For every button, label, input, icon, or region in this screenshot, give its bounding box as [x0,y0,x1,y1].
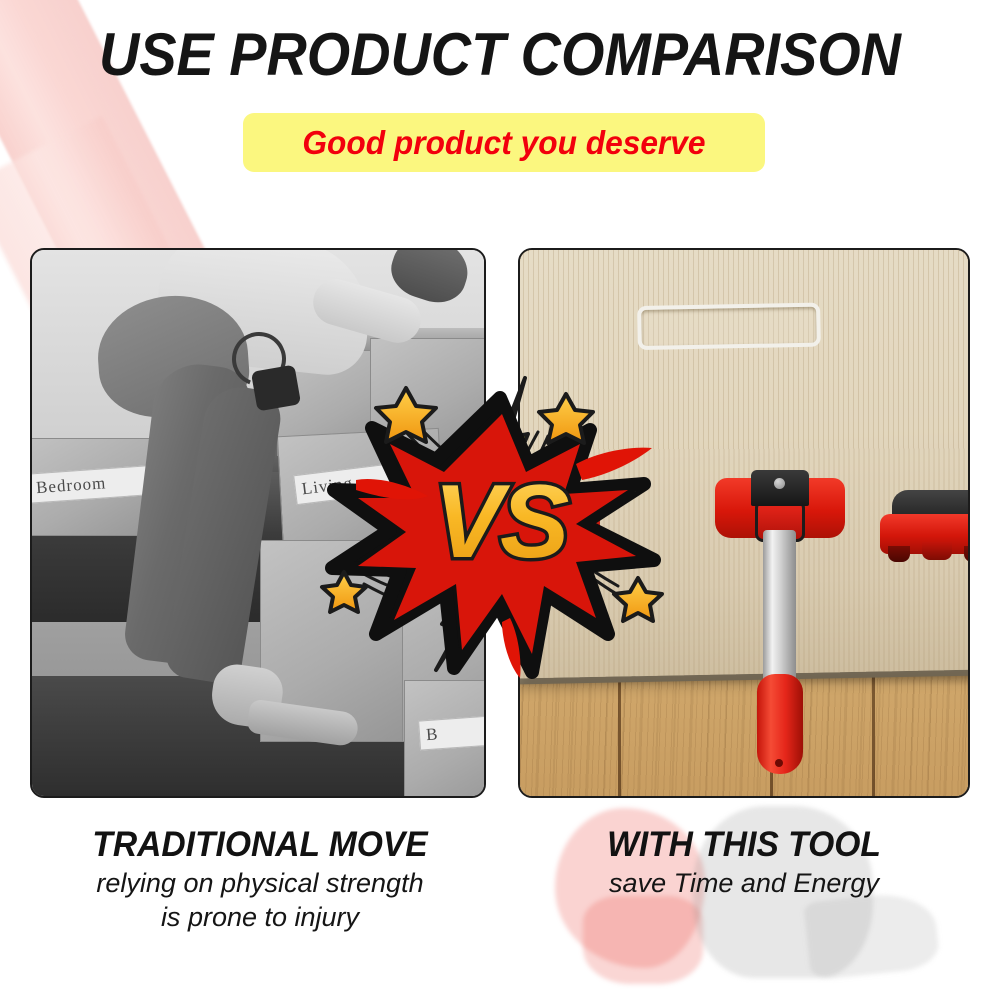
moving-scene-image: Bedroom Living B [32,250,484,796]
subtitle-text: Good product you deserve [302,124,705,162]
furniture-lifter-tool [715,478,845,768]
with-this-tool-photo [518,248,970,798]
page-title: USE PRODUCT COMPARISON [35,22,965,88]
caption-line-2: is prone to injury [30,900,490,934]
box-label: B [418,713,486,750]
cardboard-box: B [404,680,486,798]
product-comparison-page: USE PRODUCT COMPARISON Good product you … [0,0,1000,1000]
caption-traditional-move: TRADITIONAL MOVE relying on physical str… [30,824,490,934]
subtitle-banner: Good product you deserve [243,113,765,172]
board-handle [637,303,821,351]
furniture-roller-left [518,486,600,548]
caption-line-1: relying on physical strength [30,866,490,900]
person-lifting-box [62,248,352,756]
caption-line-1: save Time and Energy [516,866,972,900]
caption-title: TRADITIONAL MOVE [39,824,481,866]
furniture-roller-right [878,490,970,570]
caption-title: WITH THIS TOOL [525,824,963,866]
caption-with-this-tool: WITH THIS TOOL save Time and Energy [516,824,972,900]
traditional-move-photo: Bedroom Living B [30,248,486,798]
tool-in-use-image [520,250,968,796]
